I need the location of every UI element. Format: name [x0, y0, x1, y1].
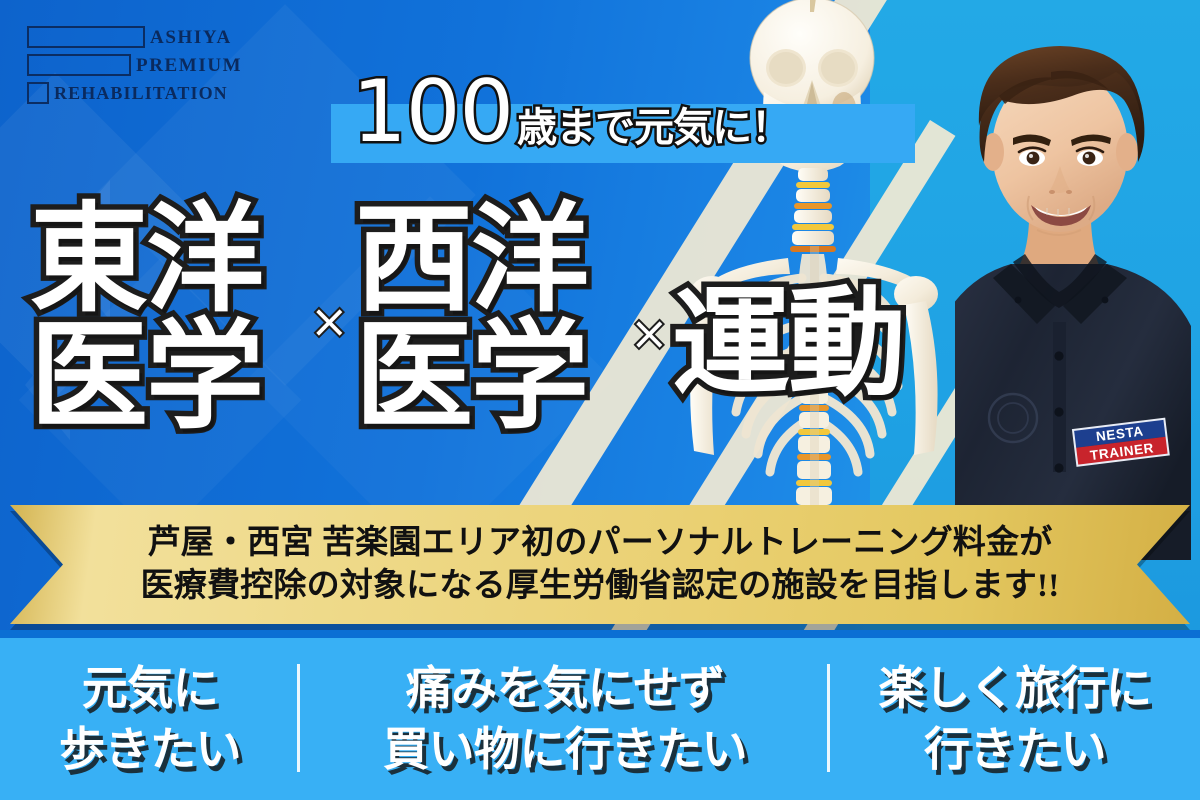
- trainer-photo: NESTA TRAINER: [955, 0, 1200, 560]
- benefit-line-1: 元気に: [82, 658, 219, 719]
- headline-group-undo: 運動: [672, 286, 904, 403]
- logo-row-rehabilitation: REHABILITATION: [27, 80, 263, 106]
- blue-divider-strip: [0, 630, 1200, 638]
- logo-bar-icon: [27, 26, 145, 48]
- ribbon-line-2: 医療費控除の対象になる厚生労働省認定の施設を目指します!!: [141, 565, 1060, 607]
- tagline-number: 100: [352, 72, 513, 154]
- brand-logo[interactable]: ASHIYA PREMIUM REHABILITATION: [27, 24, 263, 108]
- poster-canvas: NESTA TRAINER ASHIYA PREMIUM REHABILITAT…: [0, 0, 1200, 800]
- benefit-item-1[interactable]: 元気に 歩きたい: [0, 638, 300, 800]
- logo-word-ashiya: ASHIYA: [150, 28, 232, 47]
- benefit-item-3[interactable]: 楽しく旅行に 行きたい: [830, 638, 1200, 800]
- headline-line: 医学: [355, 319, 587, 436]
- logo-row-ashiya: ASHIYA: [27, 24, 263, 50]
- headline-line: 医学: [30, 319, 262, 436]
- benefit-item-2[interactable]: 痛みを気にせず 買い物に行きたい: [300, 638, 830, 800]
- main-headline: 東洋 医学 × 西洋 医学 × 運動: [0, 176, 960, 486]
- tagline-suffix: 歳まで元気に！: [517, 108, 790, 148]
- benefit-line-2: 歩きたい: [59, 719, 241, 780]
- benefits-bar: 元気に 歩きたい 痛みを気にせず 買い物に行きたい 楽しく旅行に 行きたい: [0, 638, 1200, 800]
- gold-ribbon-banner: 芦屋・西宮 苦楽園エリア初のパーソナルトレーニング料金が 医療費控除の対象になる…: [0, 500, 1200, 630]
- benefit-line-1: 痛みを気にせず: [406, 658, 725, 719]
- benefit-line-1: 楽しく旅行に: [879, 658, 1152, 719]
- headline-line: 運動: [672, 286, 904, 403]
- tagline-100-years: 100 歳まで元気に！: [352, 72, 790, 154]
- benefit-line-2: 買い物に行きたい: [383, 719, 747, 780]
- logo-square-icon: [27, 82, 49, 104]
- logo-word-rehabilitation: REHABILITATION: [54, 84, 228, 102]
- benefit-line-2: 行きたい: [924, 719, 1106, 780]
- ribbon-text-block: 芦屋・西宮 苦楽園エリア初のパーソナルトレーニング料金が 医療費控除の対象になる…: [0, 505, 1200, 624]
- logo-bar-icon: [27, 54, 131, 76]
- headline-group-seiyo: 西洋 医学: [355, 202, 587, 436]
- logo-row-premium: PREMIUM: [27, 52, 263, 78]
- headline-group-toyo: 東洋 医学: [30, 202, 262, 436]
- multiply-icon: ×: [630, 306, 669, 360]
- headline-line: 西洋: [355, 202, 587, 319]
- ribbon-line-1: 芦屋・西宮 苦楽園エリア初のパーソナルトレーニング料金が: [148, 522, 1053, 564]
- multiply-icon: ×: [310, 294, 349, 348]
- headline-line: 東洋: [30, 202, 262, 319]
- logo-word-premium: PREMIUM: [136, 56, 242, 75]
